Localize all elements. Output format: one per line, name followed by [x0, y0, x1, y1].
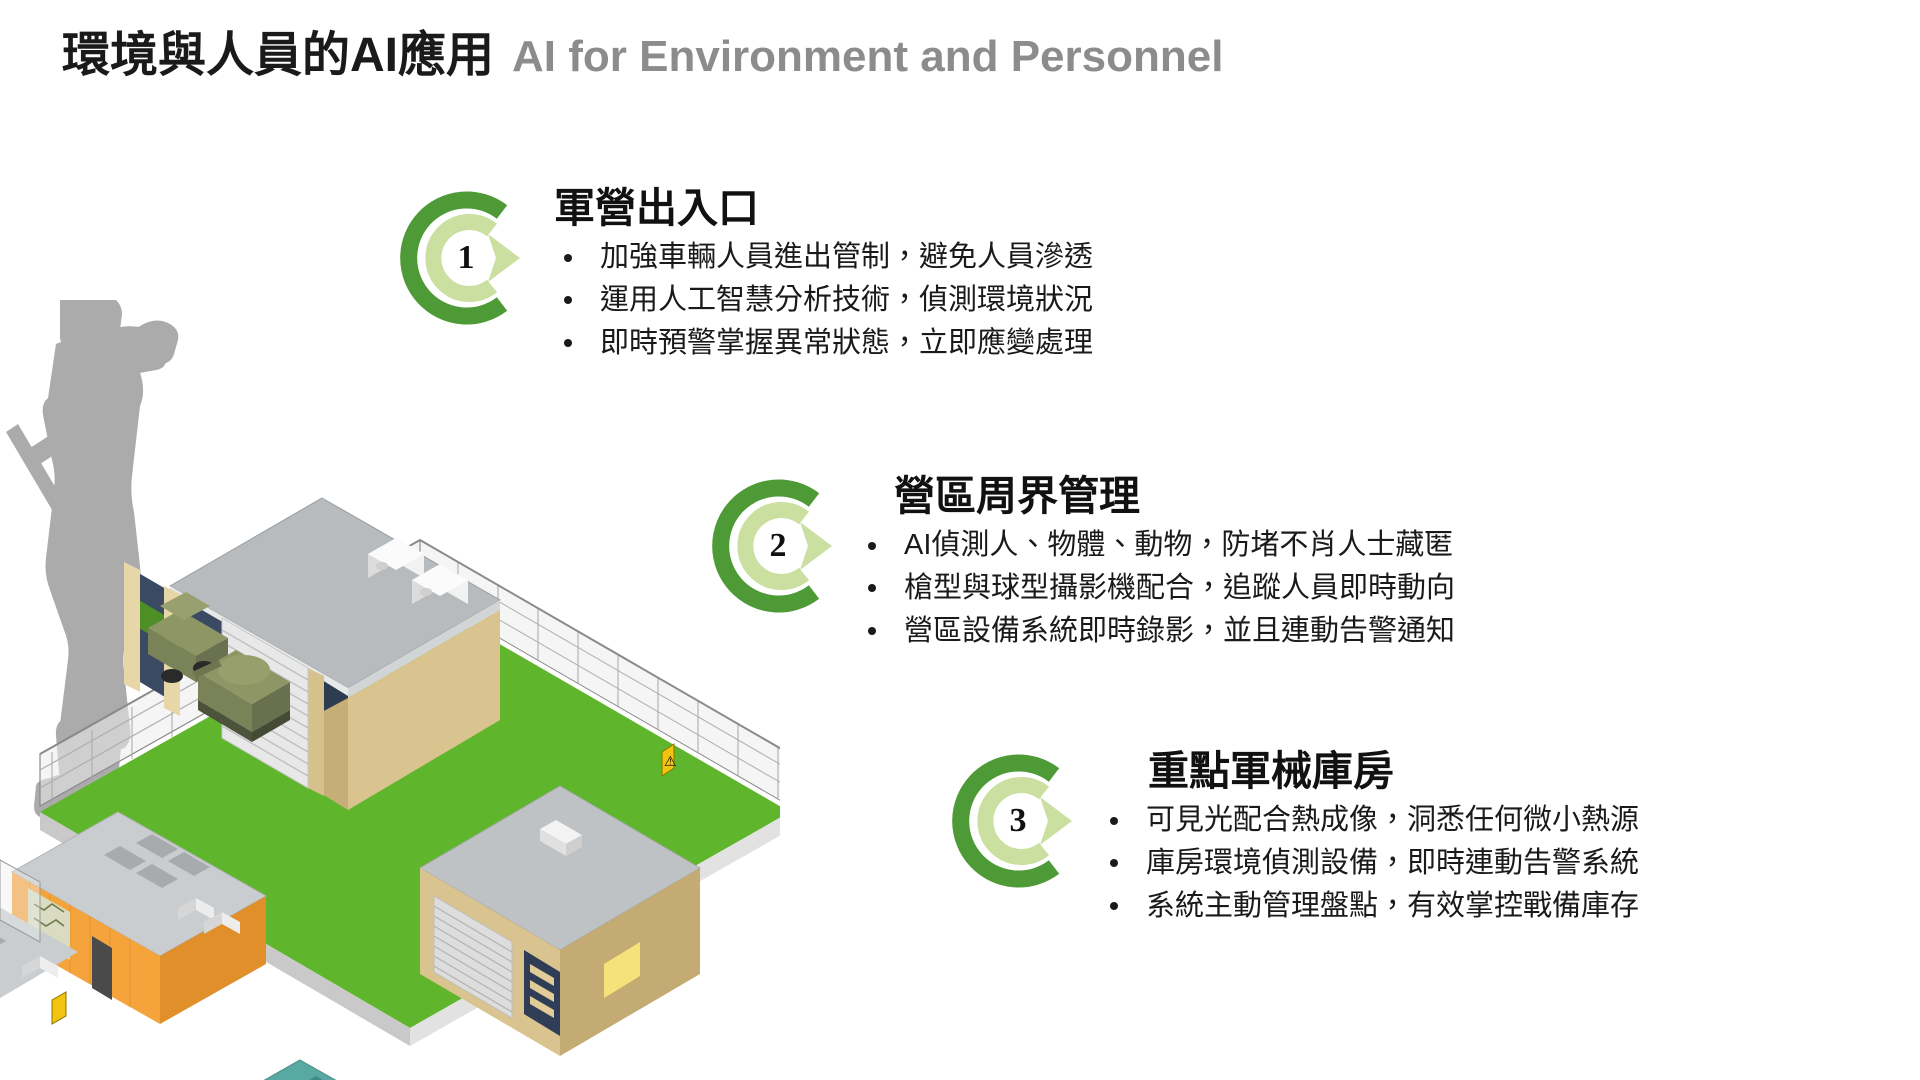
page-title: 環境與人員的AI應用 AI for Environment and Person… [62, 32, 1223, 80]
step-badge-3: 3 [940, 745, 1092, 897]
bullet-dot-icon [564, 339, 572, 347]
section-title-1: 軍營出入口 [554, 186, 1093, 230]
section-bullets-2: AI偵測人、物體、動物，防堵不肖人士藏匿 槍型與球型攝影機配合，追蹤人員即時動向… [858, 524, 1455, 652]
page-title-chinese: 環境與人員的AI應用 [62, 32, 494, 80]
section-title-3: 重點軍械庫房 [1100, 749, 1639, 793]
bullet-dot-icon [1110, 902, 1118, 910]
bullet-item: 加強車輛人員進出管制，避免人員滲透 [554, 236, 1093, 279]
step-number-1: 1 [388, 182, 540, 334]
bullet-dot-icon [1110, 859, 1118, 867]
bullet-item: 可見光配合熱成像，洞悉任何微小熱源 [1100, 799, 1639, 842]
armored-vehicle [148, 592, 228, 683]
grass-plate [40, 598, 780, 1028]
bullet-dot-icon [564, 254, 572, 262]
bullet-text: 庫房環境偵測設備，即時連動告警系統 [1146, 847, 1639, 879]
bullet-dot-icon [868, 584, 876, 592]
bullet-dot-icon [1110, 817, 1118, 825]
bullet-dot-icon [564, 296, 572, 304]
rooftop-ac-unit [412, 564, 468, 604]
step-badge-1: 1 [388, 182, 540, 334]
bullet-text: 運用人工智慧分析技術，偵測環境狀況 [600, 284, 1093, 316]
soldier-silhouette [6, 300, 178, 820]
bullet-item: 即時預警掌握異常狀態，立即應變處理 [554, 322, 1093, 365]
barracks-building-left-second [0, 896, 78, 1062]
bullet-text: 可見光配合熱成像，洞悉任何微小熱源 [1146, 804, 1639, 836]
rooftop-ac-unit [368, 538, 424, 578]
section-bullets-3: 可見光配合熱成像，洞悉任何微小熱源 庫房環境偵測設備，即時連動告警系統 系統主動… [1100, 799, 1639, 927]
bullet-text: 營區設備系統即時錄影，並且連動告警通知 [904, 615, 1455, 647]
bullet-text: 槍型與球型攝影機配合，追蹤人員即時動向 [904, 572, 1455, 604]
armory-building [420, 786, 700, 1056]
bullet-text: 系統主動管理盤點，有效掌控戰備庫存 [1146, 890, 1639, 922]
section-camp-entrance: 1 軍營出入口 加強車輛人員進出管制，避免人員滲透 運用人工智慧分析技術，偵測環… [388, 182, 1093, 364]
hazard-sign-bottom-icon [52, 992, 66, 1024]
svg-text:⚠: ⚠ [664, 753, 677, 769]
bullet-text: 加強車輛人員進出管制，避免人員滲透 [600, 241, 1093, 273]
vehicle-garage-building [124, 498, 500, 810]
bullet-item: 營區設備系統即時錄影，並且連動告警通知 [858, 610, 1455, 653]
perimeter-fence-back-left [40, 540, 420, 806]
step-number-2: 2 [700, 470, 852, 622]
bullet-item: 槍型與球型攝影機配合，追蹤人員即時動向 [858, 567, 1455, 610]
bullet-text: AI偵測人、物體、動物，防堵不肖人士藏匿 [904, 529, 1453, 561]
hazard-sign-icon: ⚠ [662, 744, 677, 776]
military-camp-illustration: ⚠ [0, 300, 780, 1080]
bullet-dot-icon [868, 542, 876, 550]
barracks-building-orange [12, 812, 266, 1024]
bullet-item: 庫房環境偵測設備，即時連動告警系統 [1100, 842, 1639, 885]
perimeter-fence-front-left [0, 860, 40, 942]
section-title-2: 營區周界管理 [858, 474, 1455, 518]
section-armory: 3 重點軍械庫房 可見光配合熱成像，洞悉任何微小熱源 庫房環境偵測設備，即時連動… [940, 745, 1639, 927]
step-number-3: 3 [940, 745, 1092, 897]
step-badge-2: 2 [700, 470, 852, 622]
tank [192, 650, 290, 742]
bullet-item: AI偵測人、物體、動物，防堵不肖人士藏匿 [858, 524, 1455, 567]
section-perimeter-management: 2 營區周界管理 AI偵測人、物體、動物，防堵不肖人士藏匿 槍型與球型攝影機配合… [700, 470, 1455, 652]
section-bullets-1: 加強車輛人員進出管制，避免人員滲透 運用人工智慧分析技術，偵測環境狀況 即時預警… [554, 236, 1093, 364]
teal-roof-building [180, 1060, 420, 1080]
bullet-dot-icon [868, 627, 876, 635]
bullet-text: 即時預警掌握異常狀態，立即應變處理 [600, 327, 1093, 359]
bullet-item: 系統主動管理盤點，有效掌控戰備庫存 [1100, 885, 1639, 928]
page-title-english: AI for Environment and Personnel [512, 35, 1223, 79]
bullet-item: 運用人工智慧分析技術，偵測環境狀況 [554, 279, 1093, 322]
